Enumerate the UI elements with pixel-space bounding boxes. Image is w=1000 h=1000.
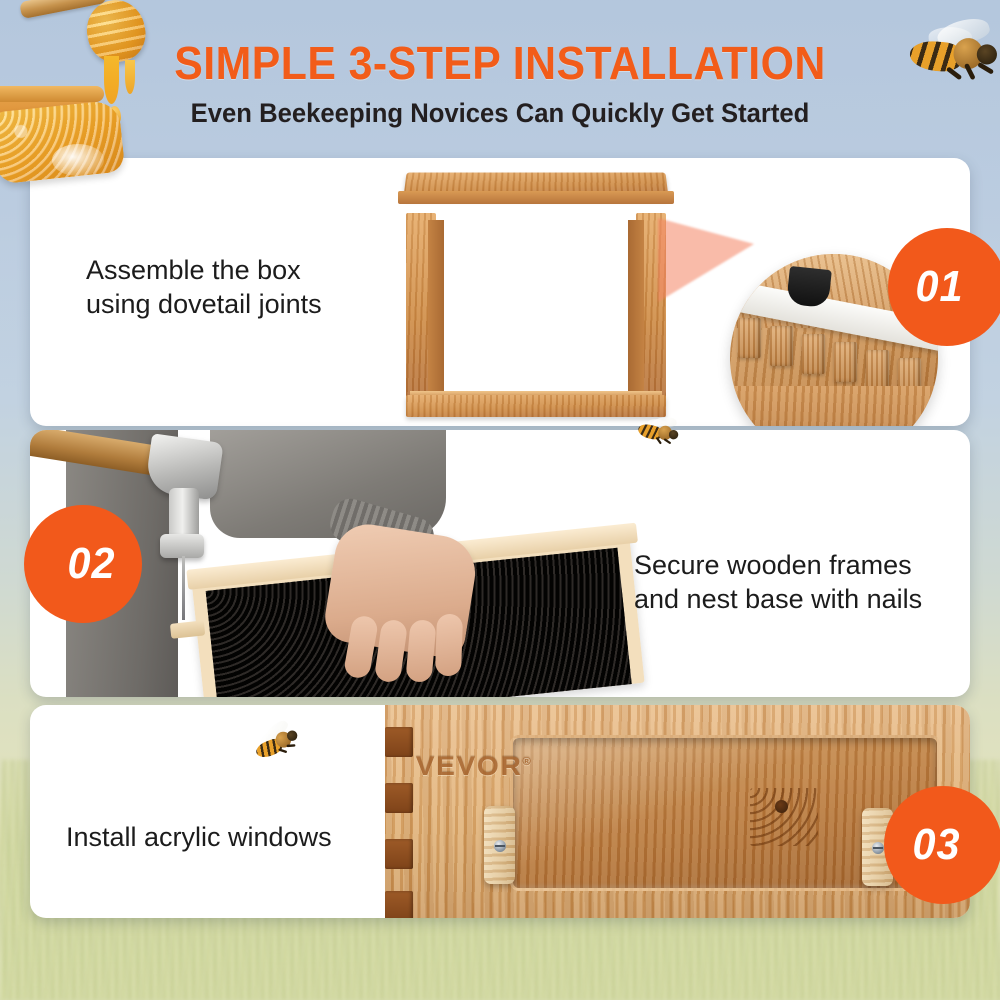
magnifier-cone (658, 218, 754, 302)
hammer-face (160, 534, 204, 558)
step-3-caption: Install acrylic windows (66, 820, 396, 854)
dovetail-pin (802, 334, 825, 374)
lid-dovetail-notch (385, 727, 413, 757)
step-number-03: 03 (912, 820, 960, 870)
vevor-brand-logo: VEVOR® (416, 751, 533, 782)
hive-box-bottom-rail (406, 395, 666, 417)
honey-drip-icon (104, 56, 119, 104)
nail-icon (182, 556, 185, 620)
dovetail-pin (770, 326, 793, 366)
lid-dovetail-notch (385, 891, 413, 918)
step-badge-01: 01 (888, 228, 1000, 346)
lid-dovetail-notch (385, 783, 413, 813)
step-badge-02: 02 (24, 505, 142, 623)
vent-center-knot (775, 800, 788, 813)
honeycomb-highlight (52, 144, 104, 176)
magnifier-wood-base (730, 386, 938, 426)
hive-box-left-inner-edge (428, 220, 444, 402)
step-number-02: 02 (67, 539, 115, 589)
dovetail-pin (738, 318, 761, 358)
honey-decoration (0, 0, 177, 179)
finger (435, 614, 463, 677)
hive-box-right-inner-edge (628, 220, 644, 402)
honey-pot-rim-icon (0, 86, 104, 102)
hive-box-top-lip (398, 191, 674, 204)
honey-drip-secondary-icon (125, 60, 135, 94)
latch-screw-right-icon (872, 842, 884, 854)
ventilation-mesh-grid (750, 788, 818, 846)
step-number-01: 01 (915, 262, 963, 312)
dovetail-pin (866, 350, 889, 390)
dovetail-pin (834, 342, 857, 382)
step-1-caption: Assemble the box using dovetail joints (86, 253, 416, 321)
step-badge-03: 03 (884, 786, 1000, 904)
step-2-caption: Secure wooden frames and nest base with … (634, 548, 964, 616)
vevor-wordmark: VEVOR (416, 751, 523, 781)
trademark-symbol: ® (522, 756, 532, 768)
latch-screw-left-icon (494, 840, 506, 852)
